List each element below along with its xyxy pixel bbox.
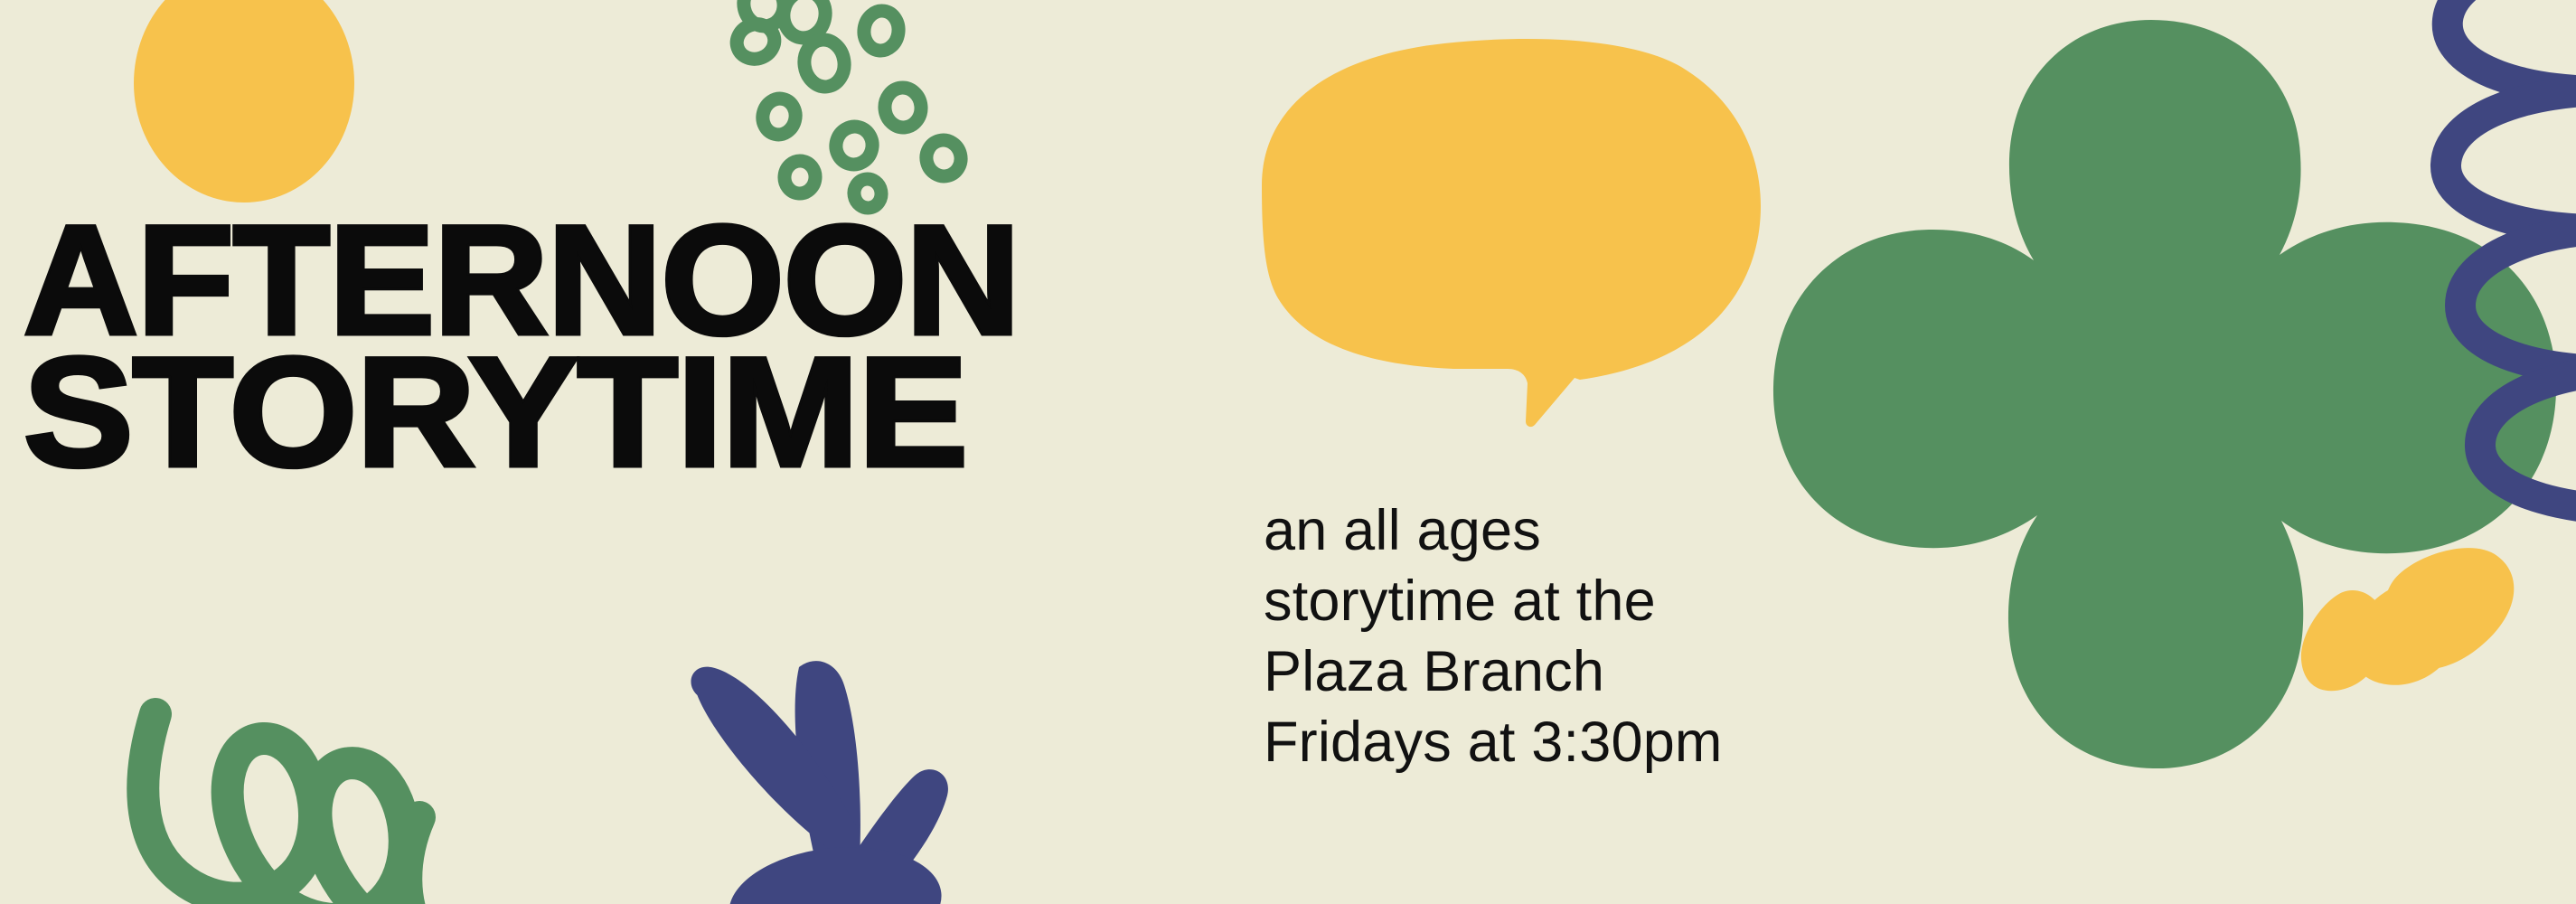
body-line-4: Fridays at 3:30pm (1264, 707, 2077, 777)
headline-line-2: STORYTIME (24, 353, 1327, 472)
text-layer: AFTERNOON STORYTIME an all ages storytim… (0, 0, 2576, 904)
page-title: AFTERNOON STORYTIME (24, 221, 1253, 472)
event-description: an all ages storytime at the Plaza Branc… (1264, 495, 2077, 777)
body-line-1: an all ages (1264, 495, 2077, 566)
body-line-3: Plaza Branch (1264, 636, 2077, 707)
headline-line-1: AFTERNOON (24, 221, 1277, 340)
body-line-2: storytime at the (1264, 566, 2077, 636)
promo-banner: AFTERNOON STORYTIME an all ages storytim… (0, 0, 2576, 904)
